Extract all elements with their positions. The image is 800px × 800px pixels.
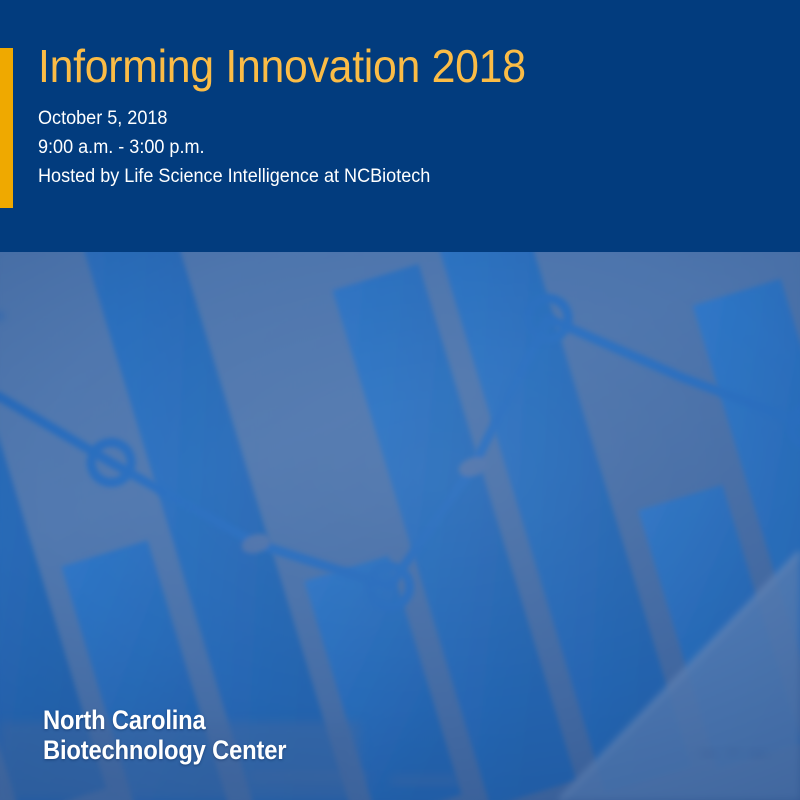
ncbiotech-logo: North Carolina Biotechnology Center — [43, 705, 320, 765]
logo-line-north-carolina: North Carolina — [43, 705, 286, 735]
gold-accent-bar — [0, 48, 13, 208]
event-date: October 5, 2018 — [38, 104, 732, 133]
header-text-block: Informing Innovation 2018 October 5, 201… — [38, 38, 768, 191]
poster-canvas: Informing Innovation 2018 October 5, 201… — [0, 0, 800, 800]
page-title: Informing Innovation 2018 — [38, 38, 717, 94]
event-time: 9:00 a.m. - 3:00 p.m. — [38, 133, 732, 162]
event-host: Hosted by Life Science Intelligence at N… — [38, 162, 732, 191]
logo-line-biotechnology-center: Biotechnology Center — [43, 735, 286, 765]
